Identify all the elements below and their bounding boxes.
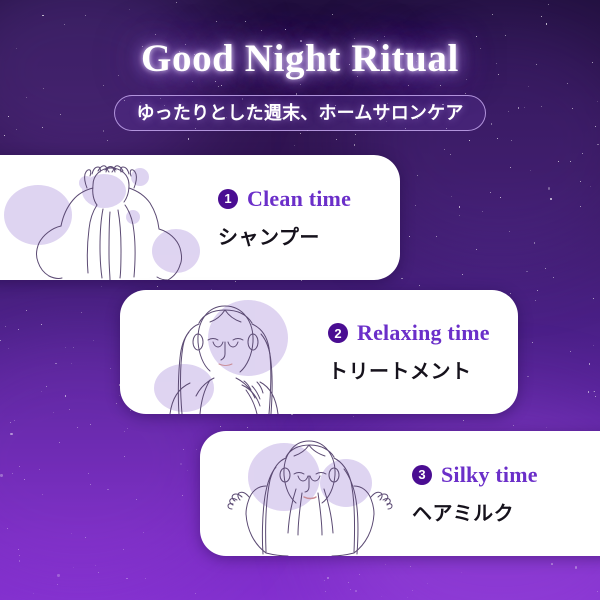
step-number-badge-3: 3 xyxy=(412,465,432,485)
woman-touching-hair-icon xyxy=(126,290,322,414)
step-2-en-label: Relaxing time xyxy=(357,320,490,346)
step-number-badge-1: 1 xyxy=(218,189,238,209)
step-2-text: 2 Relaxing time トリートメント xyxy=(322,320,518,384)
step-1-en-label: Clean time xyxy=(247,186,351,212)
step-3-text: 3 Silky time ヘアミルク xyxy=(406,462,600,526)
step-card-1[interactable]: 1 Clean time シャンプー xyxy=(0,155,400,280)
woman-running-hands-through-hair-icon xyxy=(206,431,406,556)
step-card-3[interactable]: 3 Silky time ヘアミルク xyxy=(200,431,600,556)
subtitle-pill: ゆったりとした週末、ホームサロンケア xyxy=(114,95,486,131)
step-1-jp-label: シャンプー xyxy=(218,221,400,250)
step-3-jp-label: ヘアミルク xyxy=(412,497,600,526)
step-number-badge-2: 2 xyxy=(328,323,348,343)
step-card-2[interactable]: 2 Relaxing time トリートメント xyxy=(120,290,518,414)
step-2-heading: 2 Relaxing time xyxy=(328,320,518,346)
poster-canvas: Good Night Ritual ゆったりとした週末、ホームサロンケア xyxy=(0,0,600,600)
step-1-heading: 1 Clean time xyxy=(218,186,400,212)
step-3-heading: 3 Silky time xyxy=(412,462,600,488)
nebula-glow-top-left xyxy=(0,0,220,180)
step-2-jp-label: トリートメント xyxy=(328,355,518,384)
step-3-en-label: Silky time xyxy=(441,462,538,488)
page-title: Good Night Ritual xyxy=(0,36,600,81)
woman-washing-hair-icon xyxy=(0,155,212,280)
step-1-text: 1 Clean time シャンプー xyxy=(212,186,400,250)
